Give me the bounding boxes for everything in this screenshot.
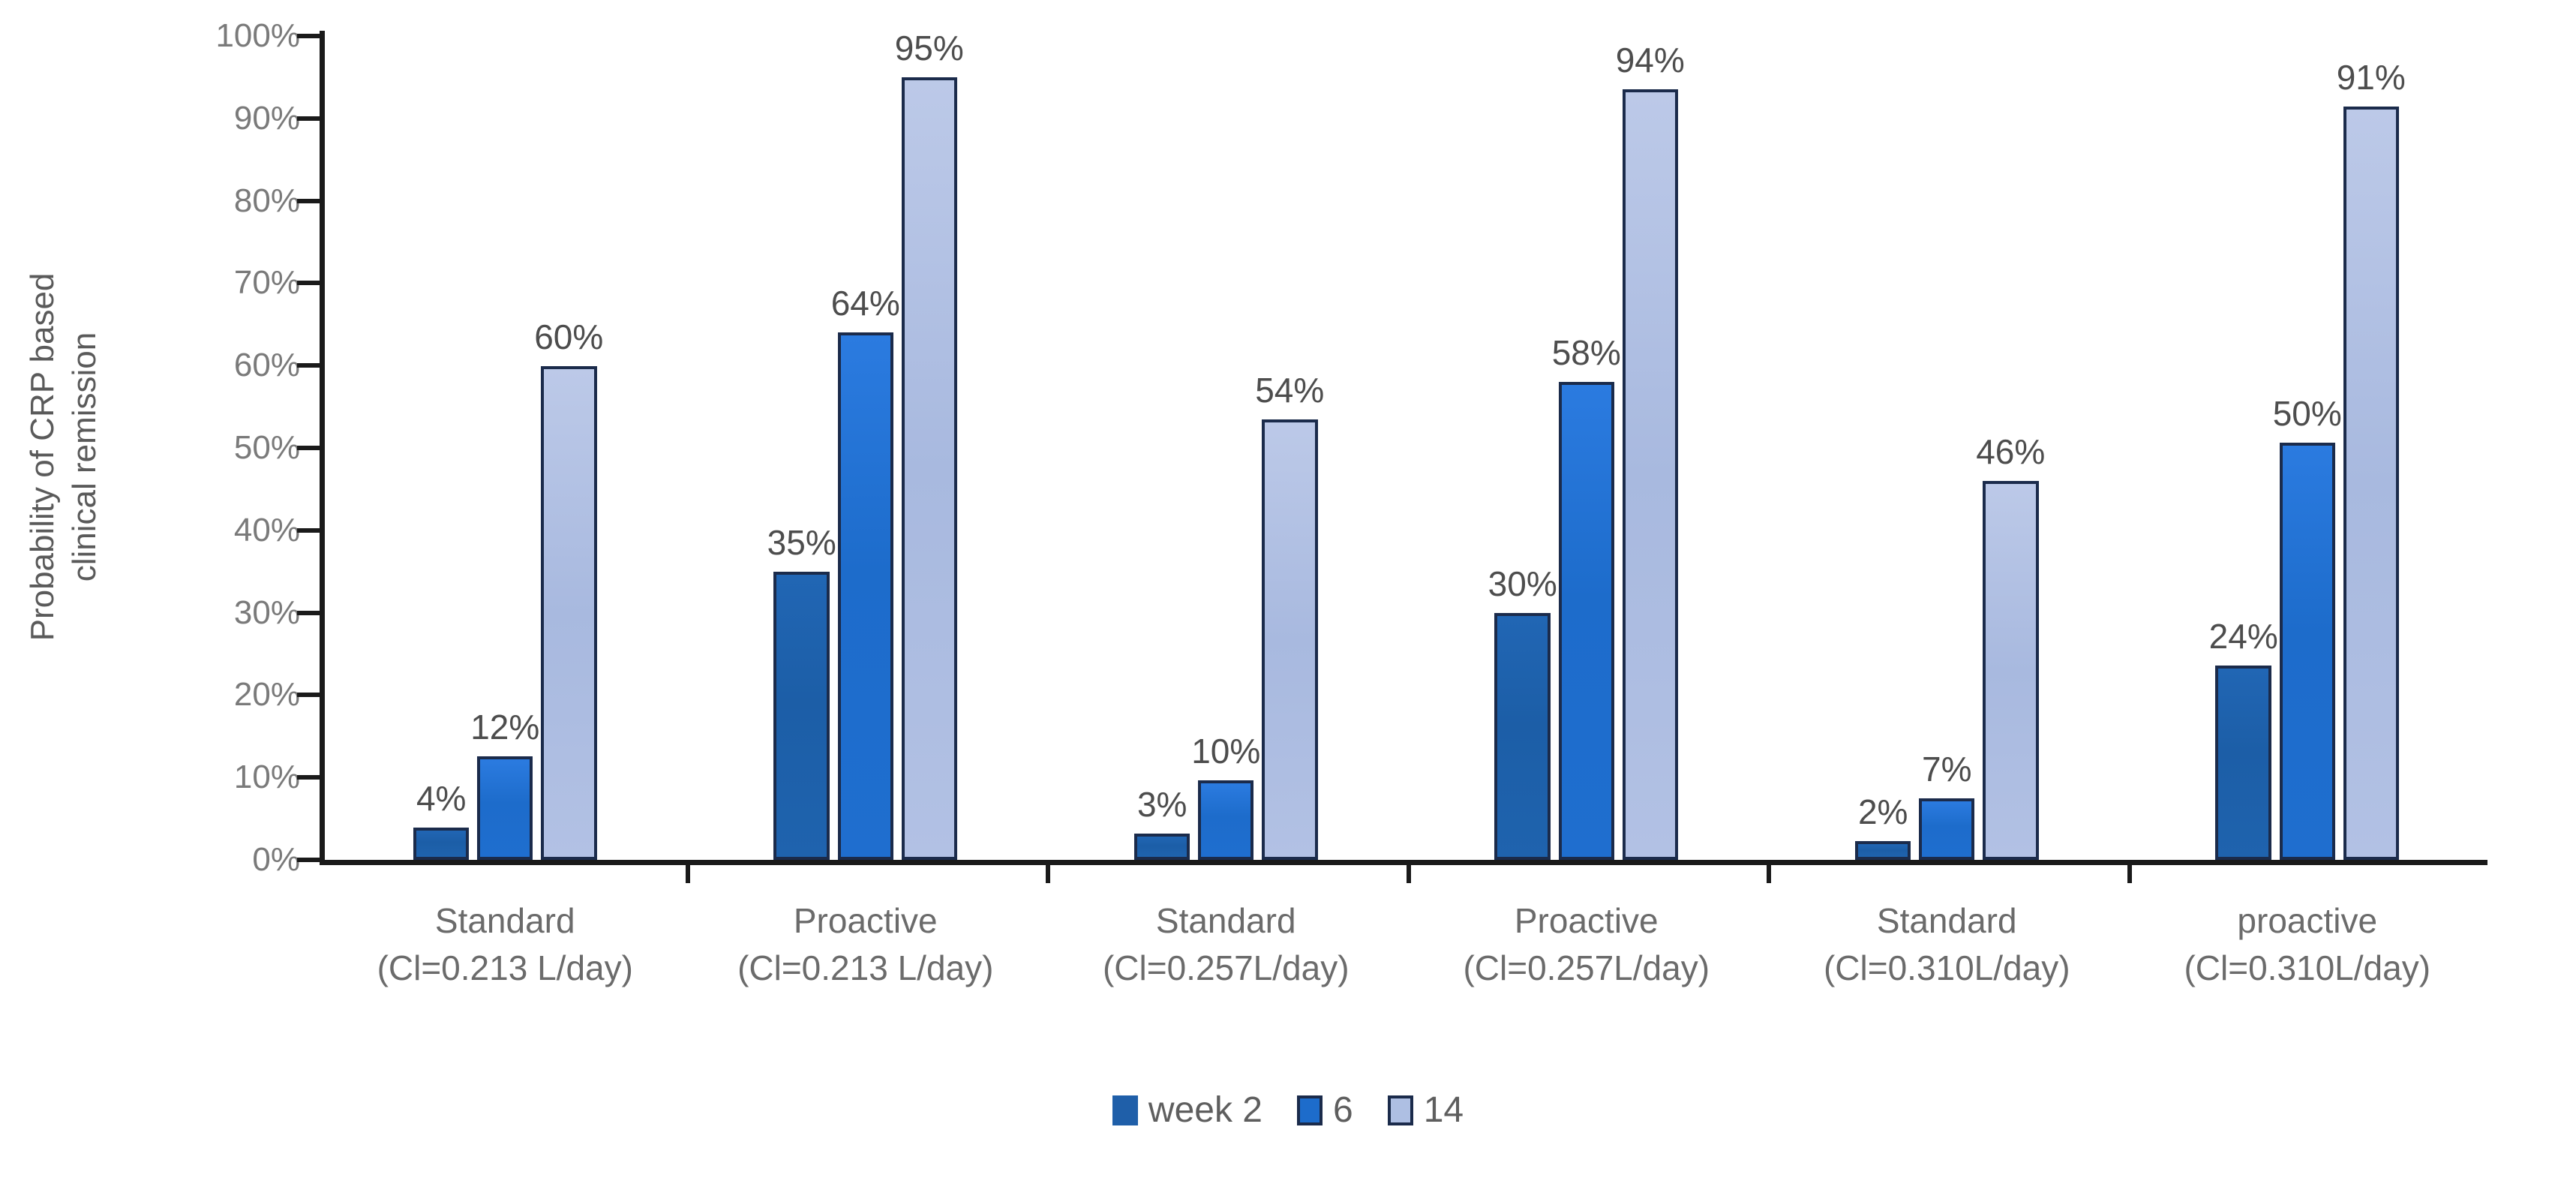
bar-value-label: 58% — [1552, 332, 1621, 373]
bar[interactable] — [773, 572, 829, 860]
y-axis-tick-mark — [297, 775, 320, 780]
bar-slot: 91% — [2343, 36, 2399, 860]
bar-group: 3%10%54% — [1134, 36, 1318, 860]
bar-slot: 46% — [1983, 36, 2038, 860]
x-axis-category-label: Proactive(Cl=0.213 L/day) — [686, 897, 1046, 993]
legend-swatch-icon — [1388, 1095, 1413, 1125]
x-category-line-1: Proactive — [794, 901, 938, 940]
y-axis-tick-mark — [297, 281, 320, 285]
x-category-line-2: (Cl=0.213 L/day) — [686, 945, 1046, 992]
y-axis-tick-label: 60% — [234, 347, 300, 384]
y-axis-tick-mark — [297, 528, 320, 533]
bar-value-label: 10% — [1191, 731, 1260, 771]
bar-slot: 94% — [1623, 36, 1678, 860]
bar-value-label: 24% — [2209, 616, 2278, 657]
legend-item[interactable]: week 2 — [1112, 1089, 1262, 1131]
chart-legend: week 2614 — [0, 1089, 2576, 1131]
bar[interactable] — [838, 332, 893, 860]
bar[interactable] — [902, 77, 957, 860]
x-axis-line — [320, 860, 2487, 865]
bar-group: 2%7%46% — [1855, 36, 2039, 860]
bar[interactable] — [2280, 443, 2335, 860]
y-axis-tick-label: 0% — [252, 841, 300, 879]
bar-value-label: 12% — [470, 707, 539, 747]
bar[interactable] — [1494, 613, 1550, 860]
bar-value-label: 30% — [1488, 563, 1557, 604]
bar-value-label: 95% — [895, 28, 964, 68]
bar-slot: 12% — [477, 36, 533, 860]
x-axis-category-labels: Standard(Cl=0.213 L/day)Proactive(Cl=0.2… — [325, 897, 2487, 1040]
bar[interactable] — [1559, 382, 1614, 860]
bar-slot: 4% — [413, 36, 469, 860]
bar-value-label: 54% — [1255, 370, 1324, 410]
legend-label: 14 — [1424, 1089, 1464, 1131]
y-axis-tick-label: 10% — [234, 759, 300, 796]
x-category-line-1: Standard — [435, 901, 575, 940]
bar-value-label: 46% — [1976, 431, 2045, 472]
x-category-line-2: (Cl=0.310L/day) — [2127, 945, 2488, 992]
bar-value-label: 50% — [2273, 393, 2342, 434]
y-axis-title-line-2: clinical remission — [64, 332, 106, 582]
bar-slot: 3% — [1134, 36, 1190, 860]
y-axis-tick-mark — [297, 34, 320, 38]
bar-value-label: 2% — [1858, 792, 1908, 832]
bar-slot: 95% — [902, 36, 957, 860]
x-category-line-2: (Cl=0.257L/day) — [1046, 945, 1407, 992]
bar[interactable] — [2343, 107, 2399, 860]
bar-value-label: 7% — [1922, 749, 1971, 789]
y-axis-tick-label: 70% — [234, 264, 300, 302]
bar-value-label: 3% — [1137, 784, 1187, 825]
y-axis-line — [320, 31, 325, 865]
bar-group: 4%12%60% — [413, 36, 597, 860]
y-axis-tick-mark — [297, 363, 320, 368]
bar[interactable] — [541, 366, 596, 860]
bar-group: 35%64%95% — [773, 36, 957, 860]
y-axis-tick-label: 30% — [234, 594, 300, 632]
bar-slot: 35% — [773, 36, 829, 860]
bar[interactable] — [1134, 834, 1190, 860]
y-axis-tick-label: 50% — [234, 429, 300, 467]
bar-slot: 64% — [838, 36, 893, 860]
x-category-line-2: (Cl=0.257L/day) — [1407, 945, 1767, 992]
bar-slot: 2% — [1855, 36, 1911, 860]
bar[interactable] — [1262, 419, 1317, 860]
bar-value-label: 94% — [1616, 40, 1685, 80]
y-axis-tick-mark — [297, 199, 320, 203]
x-axis-category-label: Standard(Cl=0.213 L/day) — [325, 897, 686, 993]
bar[interactable] — [413, 828, 469, 860]
bar[interactable] — [2215, 666, 2271, 860]
bar-value-label: 60% — [534, 317, 603, 357]
legend-item[interactable]: 14 — [1388, 1089, 1464, 1131]
bar[interactable] — [1919, 798, 1974, 860]
y-axis-title: Probability of CRP based clinical remiss… — [19, 172, 109, 742]
bar-slot: 50% — [2280, 36, 2335, 860]
bar-slot: 30% — [1494, 36, 1550, 860]
bar-slot: 58% — [1559, 36, 1614, 860]
bar-group: 24%50%91% — [2215, 36, 2399, 860]
y-axis-tick-mark — [297, 858, 320, 862]
bar[interactable] — [1198, 780, 1253, 861]
bar-value-label: 4% — [416, 778, 466, 819]
x-axis-category-label: Proactive(Cl=0.257L/day) — [1407, 897, 1767, 993]
bar-value-label: 91% — [2337, 57, 2406, 98]
y-axis-tick-mark — [297, 611, 320, 615]
x-category-line-1: proactive — [2237, 901, 2377, 940]
y-axis-tick-label: 90% — [234, 100, 300, 137]
x-category-line-2: (Cl=0.310L/day) — [1767, 945, 2127, 992]
bar-value-label: 64% — [831, 283, 900, 323]
bar[interactable] — [1983, 481, 2038, 860]
x-category-line-1: Proactive — [1515, 901, 1659, 940]
x-axis-category-label: Standard(Cl=0.257L/day) — [1046, 897, 1407, 993]
x-axis-category-label: Standard(Cl=0.310L/day) — [1767, 897, 2127, 993]
x-category-line-1: Standard — [1877, 901, 2017, 940]
x-category-line-1: Standard — [1156, 901, 1296, 940]
y-axis-tick-label: 80% — [234, 182, 300, 220]
legend-item[interactable]: 6 — [1297, 1089, 1353, 1131]
plot-area: 4%12%60%35%64%95%3%10%54%30%58%94%2%7%46… — [325, 36, 2487, 860]
legend-label: 6 — [1333, 1089, 1353, 1131]
y-axis-tick-label: 20% — [234, 676, 300, 714]
bar-slot: 24% — [2215, 36, 2271, 860]
y-axis-tick-labels: 0%10%20%30%40%50%60%70%80%90%100% — [113, 0, 300, 1199]
x-axis-category-label: proactive(Cl=0.310L/day) — [2127, 897, 2488, 993]
bar[interactable] — [477, 756, 533, 860]
x-axis-tick-mark — [1767, 865, 1771, 883]
x-axis-tick-mark — [1046, 865, 1050, 883]
y-axis-tick-mark — [297, 446, 320, 450]
bar-slot: 7% — [1919, 36, 1974, 860]
y-axis-tick-mark — [297, 116, 320, 121]
y-axis-title-line-1: Probability of CRP based — [22, 273, 64, 642]
x-axis-tick-mark — [2127, 865, 2132, 883]
bar-chart-figure: Probability of CRP based clinical remiss… — [0, 0, 2576, 1199]
y-axis-tick-label: 100% — [215, 17, 300, 55]
legend-swatch-icon — [1112, 1095, 1138, 1125]
bar-slot: 54% — [1262, 36, 1317, 860]
bar-slot: 10% — [1198, 36, 1253, 860]
bar[interactable] — [1623, 89, 1678, 860]
x-axis-tick-mark — [686, 865, 690, 883]
bar-value-label: 35% — [767, 522, 836, 563]
bar[interactable] — [1855, 841, 1911, 860]
bar-slot: 60% — [541, 36, 596, 860]
y-axis-tick-label: 40% — [234, 512, 300, 549]
legend-label: week 2 — [1148, 1089, 1262, 1131]
x-category-line-2: (Cl=0.213 L/day) — [325, 945, 686, 992]
x-axis-tick-mark — [1407, 865, 1411, 883]
y-axis-tick-mark — [297, 693, 320, 697]
legend-swatch-icon — [1297, 1095, 1323, 1125]
bar-group: 30%58%94% — [1494, 36, 1678, 860]
